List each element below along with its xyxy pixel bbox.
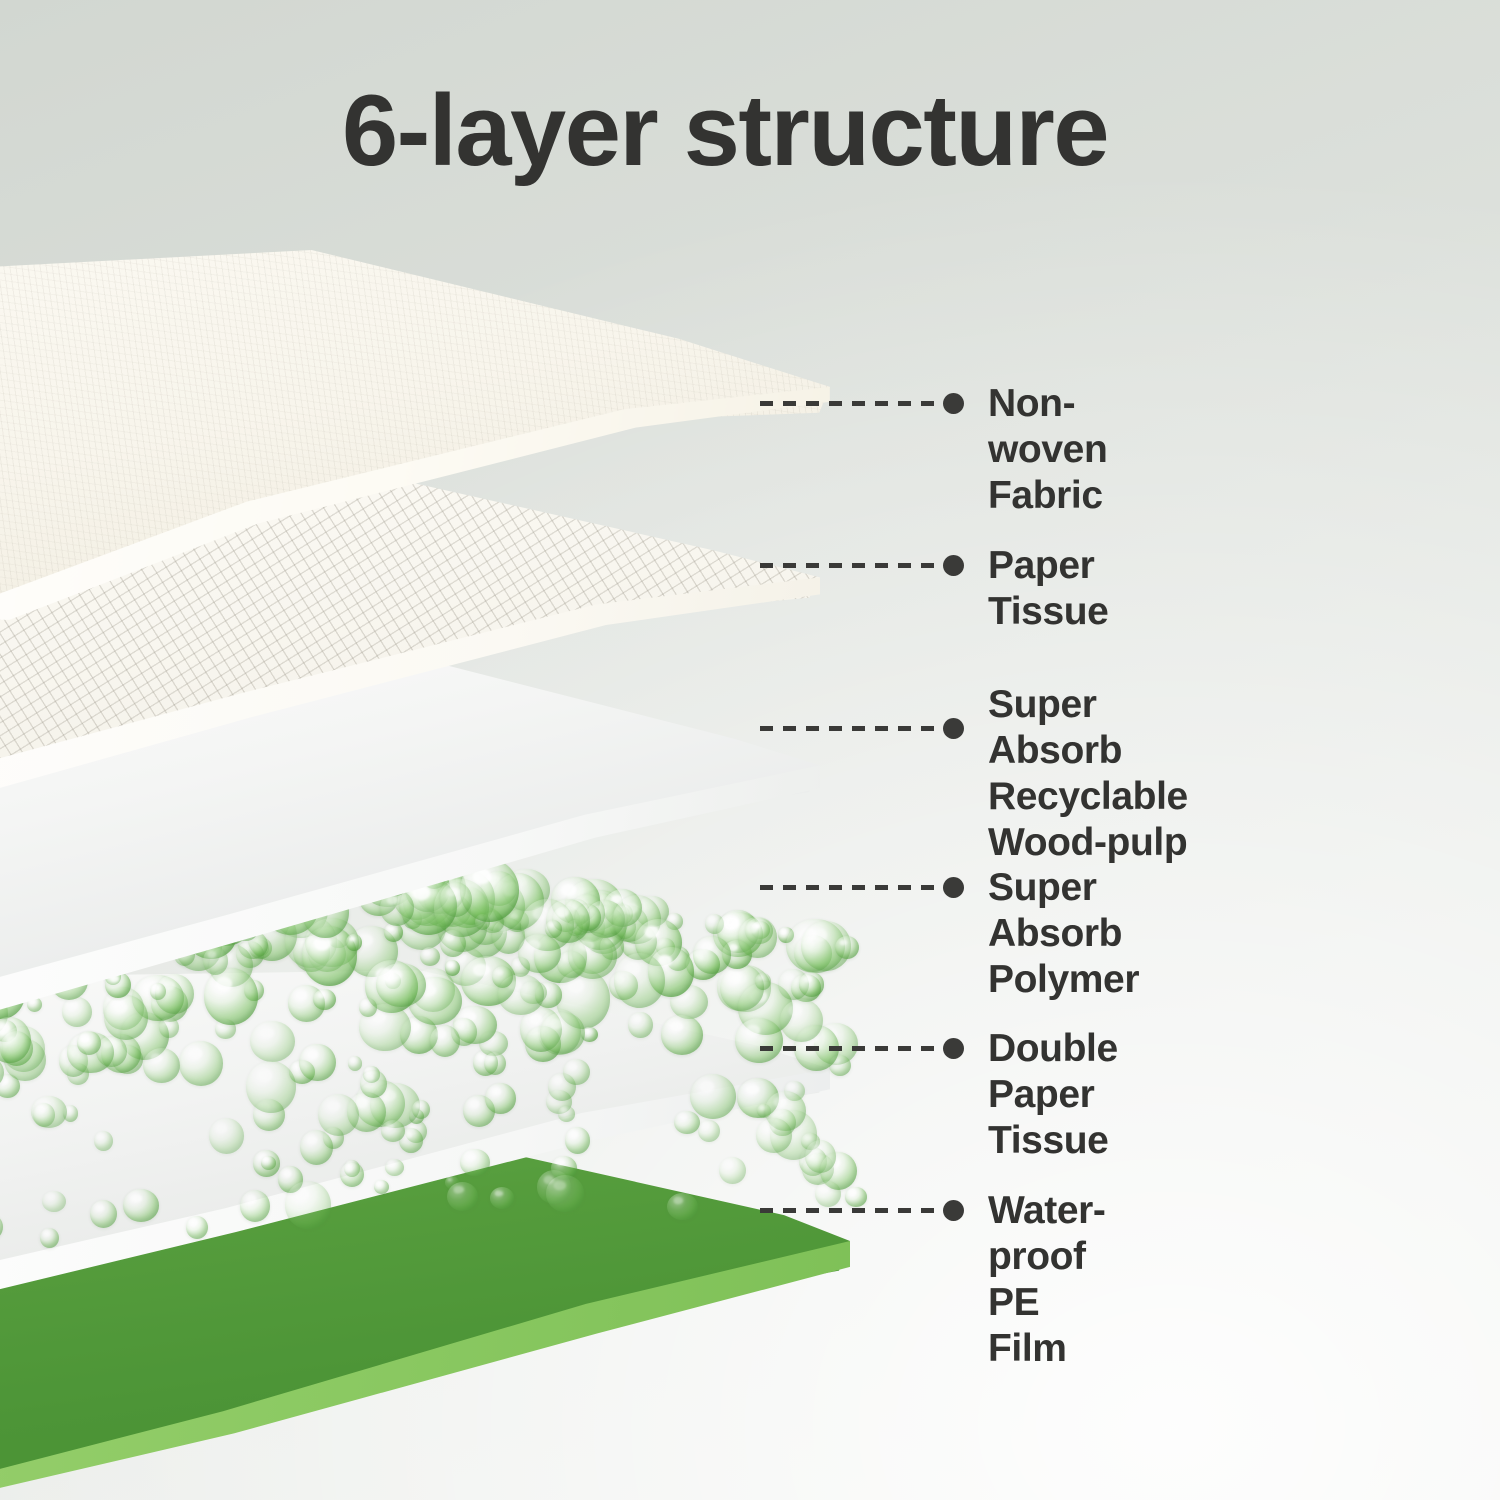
layer-label-non-woven-fabric: Non-woven Fabric — [988, 381, 1107, 519]
leader-line-2 — [760, 563, 946, 568]
leader-dot-4 — [943, 877, 964, 898]
leader-dot-6 — [943, 1200, 964, 1221]
layer-label-double-paper-tissue: Double Paper Tissue — [988, 1026, 1118, 1164]
leader-line-3 — [760, 726, 946, 731]
layer-label-super-absorb-recyclable-wood-pulp: Super Absorb Recyclable Wood-pulp — [988, 682, 1188, 866]
leader-dot-2 — [943, 555, 964, 576]
layer-label-water-proof-pe-film: Water-proof PE Film — [988, 1188, 1106, 1372]
leader-dot-5 — [943, 1038, 964, 1059]
leader-line-6 — [760, 1208, 946, 1213]
layer-structure-infographic: 6-layer structure Non-woven Fabric Paper… — [0, 0, 1500, 1500]
page-title: 6-layer structure — [342, 78, 1108, 184]
layer-label-super-absorb-polymer: Super Absorb Polymer — [988, 865, 1139, 1003]
layer-sheet-non-woven-fabric — [0, 250, 830, 620]
leader-line-4 — [760, 885, 946, 890]
polymer-bead — [835, 936, 859, 959]
leader-dot-1 — [943, 393, 964, 414]
leader-line-1 — [760, 401, 946, 406]
leader-line-5 — [760, 1046, 946, 1051]
polymer-bead — [829, 1055, 851, 1076]
leader-dot-3 — [943, 718, 964, 739]
layer-label-paper-tissue: Paper Tissue — [988, 543, 1108, 635]
